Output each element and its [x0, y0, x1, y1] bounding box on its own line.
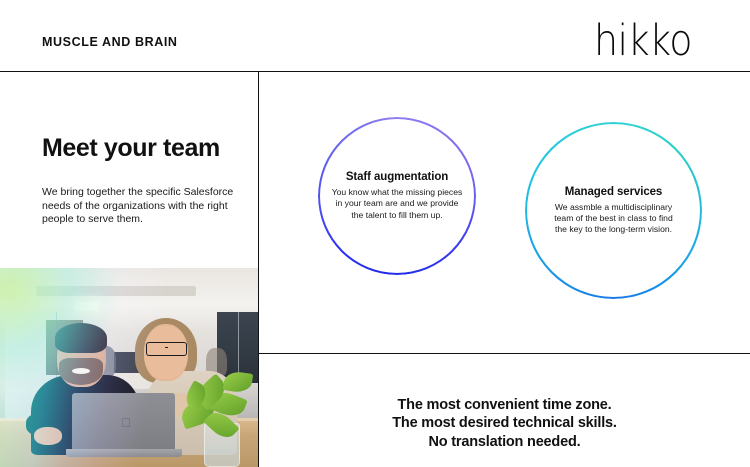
- photo-laptop-base: [66, 449, 182, 457]
- slide: MUSCLE AND BRAIN hikko Meet your team We…: [0, 0, 750, 467]
- slide-footer: The most convenient time zone. The most …: [259, 354, 750, 467]
- circle-body: You know what the missing pieces in your…: [329, 187, 465, 221]
- circle-title: Managed services: [548, 186, 680, 198]
- circle-managed-services[interactable]: Managed services We assmble a multidisci…: [525, 122, 702, 299]
- page-title: Meet your team: [42, 134, 220, 163]
- hikko-logo: hikko: [594, 19, 692, 62]
- header-eyebrow: MUSCLE AND BRAIN: [42, 35, 178, 49]
- circle-staff-augmentation[interactable]: Staff augmentation You know what the mis…: [318, 117, 476, 275]
- circle-title: Staff augmentation: [329, 171, 465, 183]
- footer-line-2: The most desired technical skills.: [392, 414, 616, 433]
- photo-ceiling-strip: [36, 286, 196, 296]
- circle-body: We assmble a multidisciplinary team of t…: [548, 202, 680, 236]
- footer-line-3: No translation needed.: [392, 433, 616, 452]
- photo-man-hair: [55, 323, 107, 353]
- circle-content: Staff augmentation You know what the mis…: [321, 171, 473, 221]
- services-circles: Staff augmentation You know what the mis…: [259, 72, 750, 353]
- apple-logo-icon: : [120, 416, 132, 429]
- circle-content: Managed services We assmble a multidisci…: [540, 186, 688, 236]
- photo-woman-glasses: [146, 342, 187, 356]
- slide-header: MUSCLE AND BRAIN hikko: [0, 0, 750, 71]
- photo-ceiling-light: [75, 302, 98, 310]
- team-photo: : [0, 268, 258, 467]
- footer-line-1: The most convenient time zone.: [392, 396, 616, 415]
- page-subtitle: We bring together the specific Salesforc…: [42, 186, 242, 227]
- footer-statement: The most convenient time zone. The most …: [392, 396, 616, 452]
- photo-man-hand: [34, 427, 62, 445]
- photo-scene: : [0, 268, 258, 467]
